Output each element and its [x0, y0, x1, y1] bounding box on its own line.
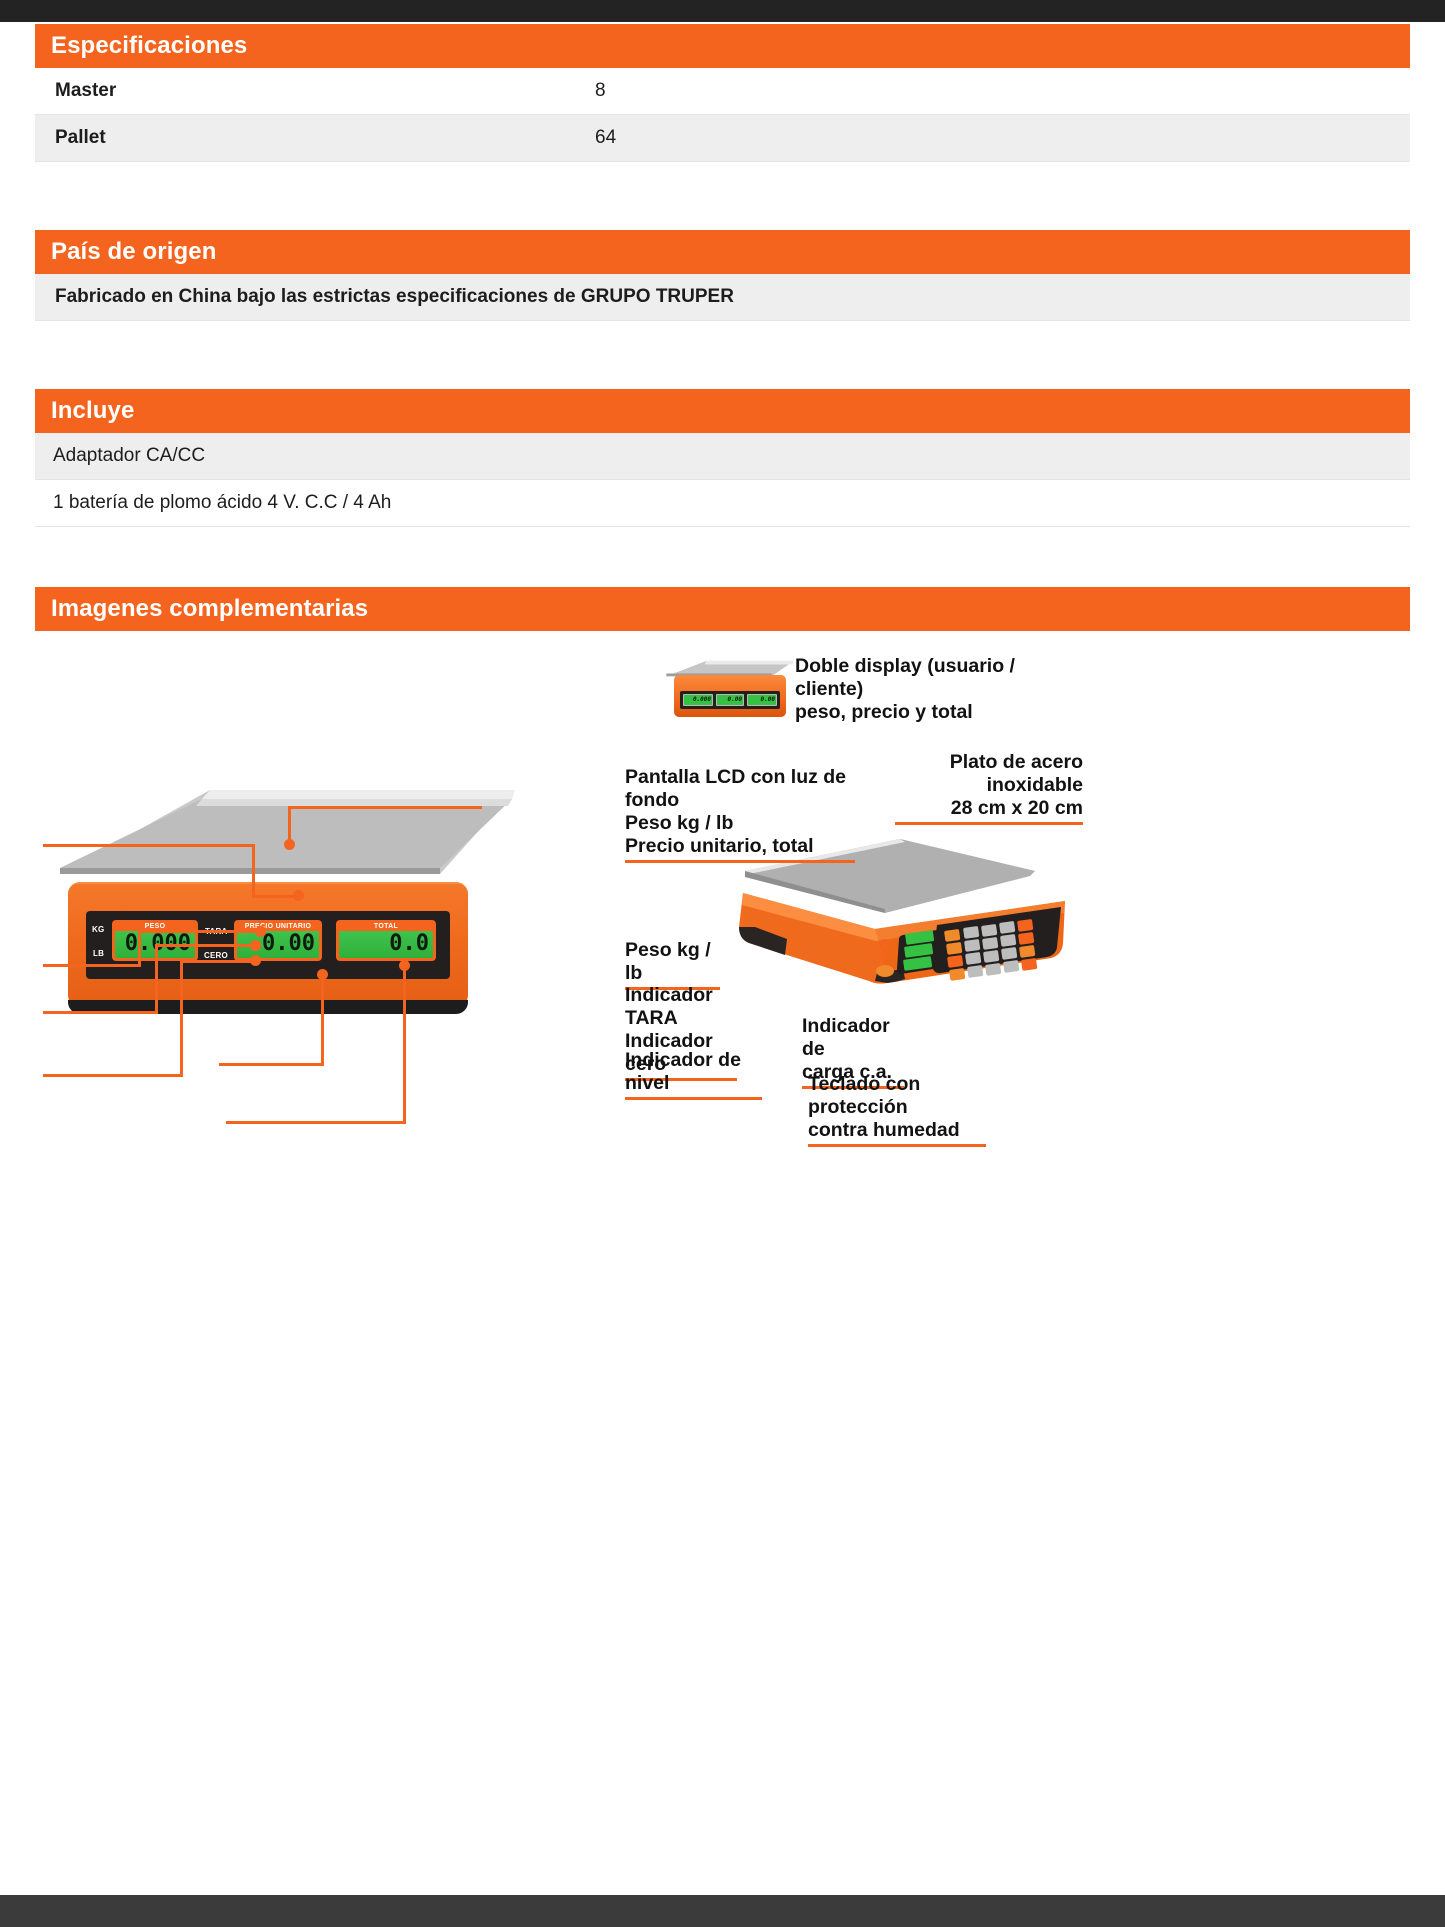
section-incluye: Incluye Adaptador CA/CC 1 batería de plo… [35, 389, 1410, 527]
page-root: Especificaciones Master 8 Pallet 64 País… [0, 0, 1445, 1927]
unit-label-kg: KG [92, 925, 104, 934]
unit-label-lb: LB [93, 949, 104, 958]
table-row: Pallet 64 [35, 115, 1410, 162]
origin-text: Fabricado en China bajo las estrictas es… [35, 286, 734, 308]
leader-line [321, 974, 324, 1064]
leader-dot [284, 839, 295, 850]
section-header-imagenes: Imagenes complementarias [35, 587, 1410, 631]
spec-label: Master [35, 80, 595, 102]
callout-indicador-nivel: Indicador de nivel [625, 1049, 762, 1100]
section-header-especificaciones: Especificaciones [35, 24, 1410, 68]
spec-value: 8 [595, 80, 606, 102]
indicator-cero-label: CERO [204, 951, 228, 960]
incluye-item-text: 1 batería de plomo ácido 4 V. C.C / 4 Ah [35, 492, 391, 514]
leader-line [252, 895, 298, 898]
leader-line [252, 844, 255, 896]
lcd-caption-total: TOTAL [339, 922, 433, 931]
mini-scale-icon: 0.000 0.00 0.00 [660, 659, 800, 719]
leader-line [138, 930, 141, 965]
callout-pantalla-lcd: Pantalla LCD con luz de fondo Peso kg / … [625, 766, 855, 863]
section-spacer [0, 162, 1445, 230]
callout-plato-acero: Plato de acero inoxidable 28 cm x 20 cm [895, 751, 1083, 825]
callout-teclado: Teclado con protección contra humedad [808, 1073, 986, 1147]
table-row: Master 8 [35, 68, 1410, 115]
section-spacer [0, 527, 1445, 587]
leader-line [226, 1121, 406, 1124]
leader-line [288, 806, 482, 809]
spec-value: 64 [595, 127, 616, 149]
leader-line [403, 965, 406, 1122]
leader-dot [399, 960, 410, 971]
mini-lcd-value-1: 0.000 [684, 695, 712, 705]
complementary-images-area: KG LB PESO 0.000 TARA CERO PRECIO UNITAR… [35, 631, 1410, 1191]
leader-line [219, 1063, 324, 1066]
mini-lcd-total: 0.00 [747, 694, 777, 706]
section-pais-de-origen: País de origen Fabricado en China bajo l… [35, 230, 1410, 321]
leader-line [43, 1074, 183, 1077]
leader-dot [255, 926, 266, 937]
leader-line [43, 1011, 158, 1014]
browser-chrome-bottom [0, 1895, 1445, 1927]
mini-lcd-value-3: 0.00 [748, 695, 776, 705]
mini-lcd-price: 0.00 [716, 694, 744, 706]
spec-label: Pallet [35, 127, 595, 149]
browser-chrome-top [0, 0, 1445, 22]
list-item: 1 batería de plomo ácido 4 V. C.C / 4 Ah [35, 480, 1410, 527]
leader-line [180, 960, 183, 1075]
leader-dot [250, 955, 261, 966]
leader-line [138, 930, 260, 933]
mini-display-panel: 0.000 0.00 0.00 [680, 691, 780, 709]
mini-lcd-weight: 0.000 [683, 694, 713, 706]
incluye-item-text: Adaptador CA/CC [35, 445, 205, 467]
section-header-pais-de-origen: País de origen [35, 230, 1410, 274]
leader-line [180, 960, 255, 963]
leader-dot [317, 969, 328, 980]
section-spacer [0, 321, 1445, 389]
list-item: Adaptador CA/CC [35, 433, 1410, 480]
callout-peso-kg-lb: Peso kg / lb [625, 939, 720, 990]
callout-doble-display: Doble display (usuario / cliente) peso, … [795, 655, 1065, 724]
section-imagenes-complementarias: Imagenes complementarias [35, 587, 1410, 631]
leader-line [155, 944, 255, 947]
leader-line [155, 944, 158, 1012]
leader-line [288, 806, 291, 843]
table-row: Fabricado en China bajo las estrictas es… [35, 274, 1410, 321]
section-header-incluye: Incluye [35, 389, 1410, 433]
lcd-unit-price: PRECIO UNITARIO 0.00 [234, 920, 322, 961]
lcd-total: TOTAL 0.0 [336, 920, 436, 961]
document-content: Especificaciones Master 8 Pallet 64 País… [0, 24, 1445, 1895]
leader-line [43, 964, 141, 967]
section-especificaciones: Especificaciones Master 8 Pallet 64 [35, 24, 1410, 162]
lcd-value-total: 0.0 [339, 931, 433, 958]
leader-line [43, 844, 255, 847]
leader-dot [293, 890, 304, 901]
leader-dot [250, 940, 261, 951]
mini-lcd-value-2: 0.00 [717, 695, 743, 705]
